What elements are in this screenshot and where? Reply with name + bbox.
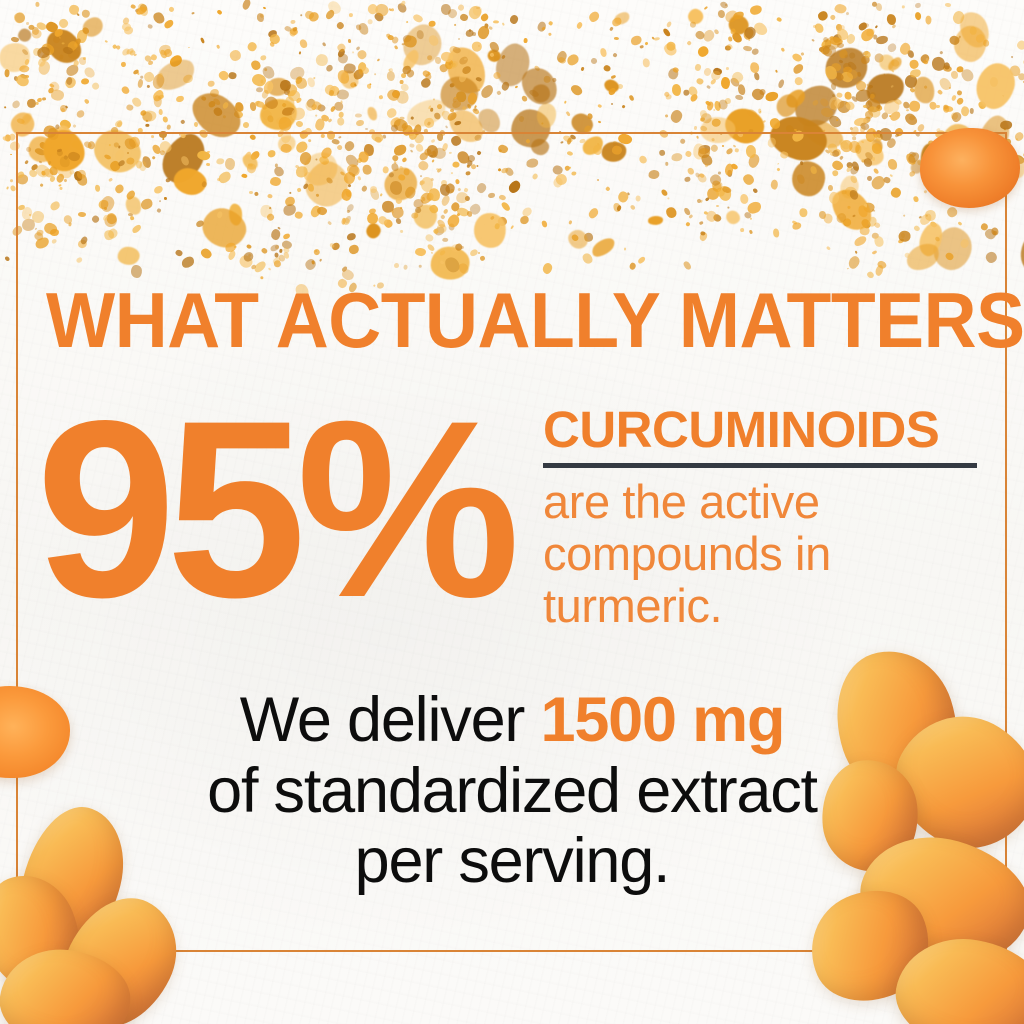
statistic-description-line: compounds in bbox=[543, 527, 831, 580]
dosage-claim-line-1: We deliver 1500 mg bbox=[0, 685, 1024, 756]
dosage-amount: 1500 mg bbox=[541, 685, 785, 755]
turmeric-root-lobe bbox=[887, 928, 1024, 1024]
statistic-description-line: are the active bbox=[543, 475, 820, 528]
slice-core bbox=[937, 142, 1003, 193]
dosage-claim: We deliver 1500 mg of standardized extra… bbox=[0, 685, 1024, 897]
dosage-claim-prefix: We deliver bbox=[240, 685, 541, 755]
statistic-description: are the active compounds in turmeric. bbox=[543, 476, 993, 632]
page-title: WHAT ACTUALLY MATTERS bbox=[46, 281, 1024, 359]
statistic-block: 95% CURCUMINOIDS are the active compound… bbox=[0, 392, 1024, 632]
slice-rim bbox=[920, 128, 1020, 208]
turmeric-root-lobe bbox=[44, 880, 195, 1024]
turmeric-slice-top-right bbox=[920, 128, 1020, 208]
statistic-description-line: turmeric. bbox=[543, 579, 722, 632]
dosage-claim-line-3: per serving. bbox=[0, 826, 1024, 897]
turmeric-powder-scatter bbox=[0, 0, 1024, 300]
statistic-copy: CURCUMINOIDS are the active compounds in… bbox=[543, 404, 993, 632]
statistic-value: 95% bbox=[36, 384, 510, 636]
statistic-underline-rule bbox=[543, 463, 977, 468]
turmeric-supplement-poster: WHAT ACTUALLY MATTERS 95% CURCUMINOIDS a… bbox=[0, 0, 1024, 1024]
dosage-claim-line-2: of standardized extract bbox=[0, 756, 1024, 827]
turmeric-root-lobe bbox=[0, 943, 135, 1024]
statistic-term: CURCUMINOIDS bbox=[543, 404, 993, 457]
